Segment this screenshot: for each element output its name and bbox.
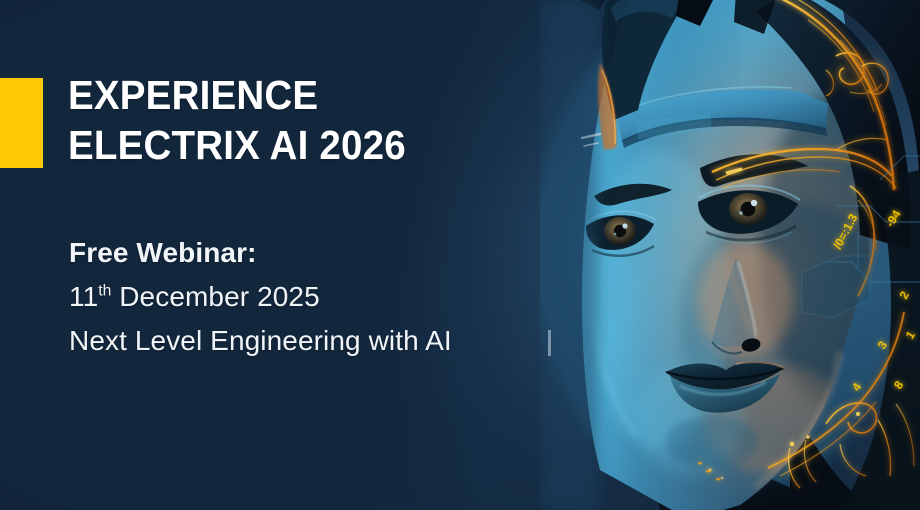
yellow-accent-bar (0, 78, 43, 168)
webinar-promo-banner: /0=:1.3 -94 2 3 4 8 1 (0, 0, 920, 510)
webinar-details: Free Webinar: 11th December 2025 Next Le… (69, 231, 452, 363)
webinar-topic: Next Level Engineering with AI (69, 319, 452, 363)
webinar-date: 11th December 2025 (69, 275, 452, 319)
webinar-date-ordinal: th (98, 283, 111, 300)
ai-android-face-illustration: /0=:1.3 -94 2 3 4 8 1 (540, 0, 920, 510)
headline-line-2: ELECTRIX AI 2026 (68, 120, 406, 170)
webinar-label: Free Webinar: (69, 231, 452, 275)
webinar-date-day: 11 (69, 281, 98, 312)
webinar-date-rest: December 2025 (111, 281, 319, 312)
headline-line-1: EXPERIENCE (68, 70, 406, 120)
page-title: EXPERIENCE ELECTRIX AI 2026 (68, 70, 406, 170)
